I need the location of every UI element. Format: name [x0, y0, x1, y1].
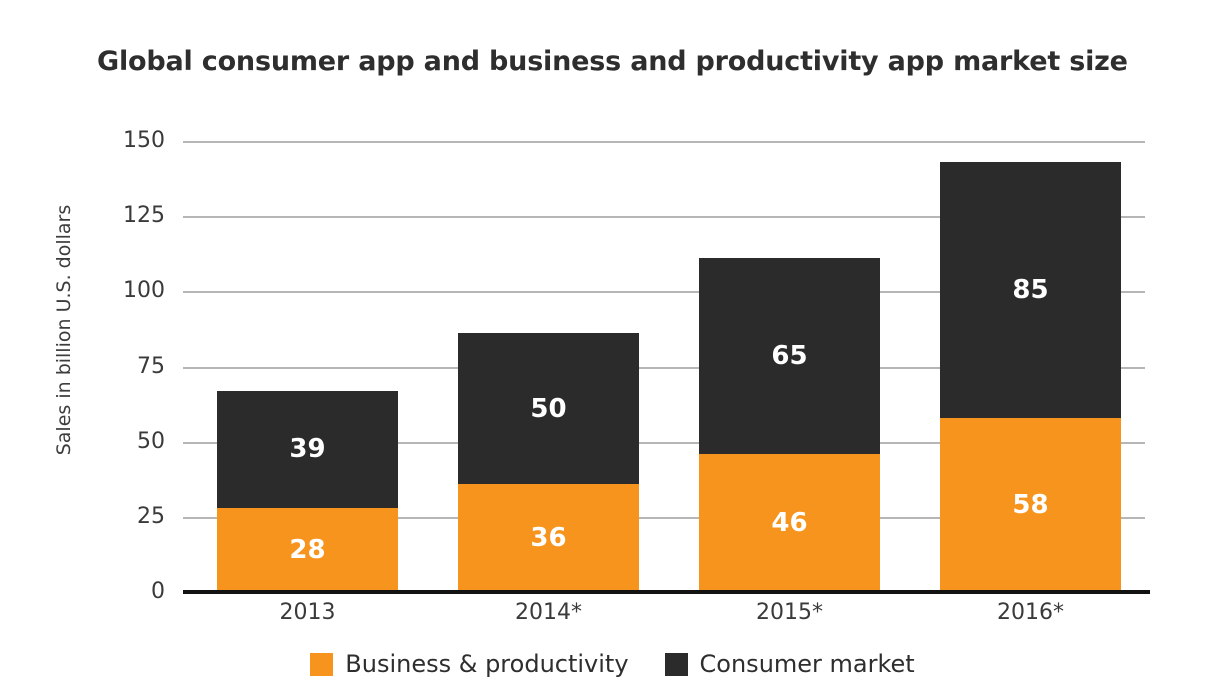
x-tick-label: 2015*	[699, 600, 880, 625]
bar-segment[interactable]: 50	[458, 333, 639, 483]
y-axis-title: Sales in billion U.S. dollars	[50, 120, 78, 540]
bar-segment[interactable]: 36	[458, 484, 639, 592]
y-tick-100: 100	[95, 280, 165, 302]
x-axis-line	[183, 590, 1150, 594]
bar-segment[interactable]: 85	[940, 162, 1121, 418]
y-tick-75: 75	[95, 356, 165, 378]
y-tick-25: 25	[95, 506, 165, 528]
x-axis-tick-labels: 20132014*2015*2016*	[183, 600, 1145, 640]
bar-value-label: 39	[289, 436, 325, 462]
y-tick-150: 150	[95, 130, 165, 152]
bar-segment[interactable]: 65	[699, 258, 880, 453]
legend-item-business[interactable]: Business & productivity	[310, 652, 628, 676]
bar-segment[interactable]: 58	[940, 418, 1121, 592]
legend-swatch-business-icon	[310, 653, 333, 676]
bar-value-label: 28	[289, 537, 325, 563]
bar-value-label: 50	[530, 396, 566, 422]
bar-segment[interactable]: 39	[217, 391, 398, 508]
y-tick-0: 0	[95, 581, 165, 603]
bar-value-label: 36	[530, 525, 566, 551]
x-tick-label: 2013	[217, 600, 398, 625]
bar-value-label: 46	[771, 510, 807, 536]
chart-container: Global consumer app and business and pro…	[0, 0, 1225, 700]
legend-swatch-consumer-icon	[665, 653, 688, 676]
bars-layer: 2839365046655885	[183, 141, 1145, 592]
legend: Business & productivity Consumer market	[0, 652, 1225, 676]
legend-label-consumer: Consumer market	[700, 652, 915, 676]
legend-item-consumer[interactable]: Consumer market	[665, 652, 915, 676]
x-tick-label: 2016*	[940, 600, 1121, 625]
y-axis-tick-labels: 150 125 100 75 50 25 0	[95, 141, 165, 592]
bar-segment[interactable]: 28	[217, 508, 398, 592]
x-tick-label: 2014*	[458, 600, 639, 625]
bar-value-label: 58	[1012, 492, 1048, 518]
bar-value-label: 85	[1012, 277, 1048, 303]
y-tick-50: 50	[95, 431, 165, 453]
bar-value-label: 65	[771, 343, 807, 369]
legend-label-business: Business & productivity	[345, 652, 628, 676]
y-tick-125: 125	[95, 205, 165, 227]
page-title: Global consumer app and business and pro…	[97, 46, 1128, 77]
bar-segment[interactable]: 46	[699, 454, 880, 592]
